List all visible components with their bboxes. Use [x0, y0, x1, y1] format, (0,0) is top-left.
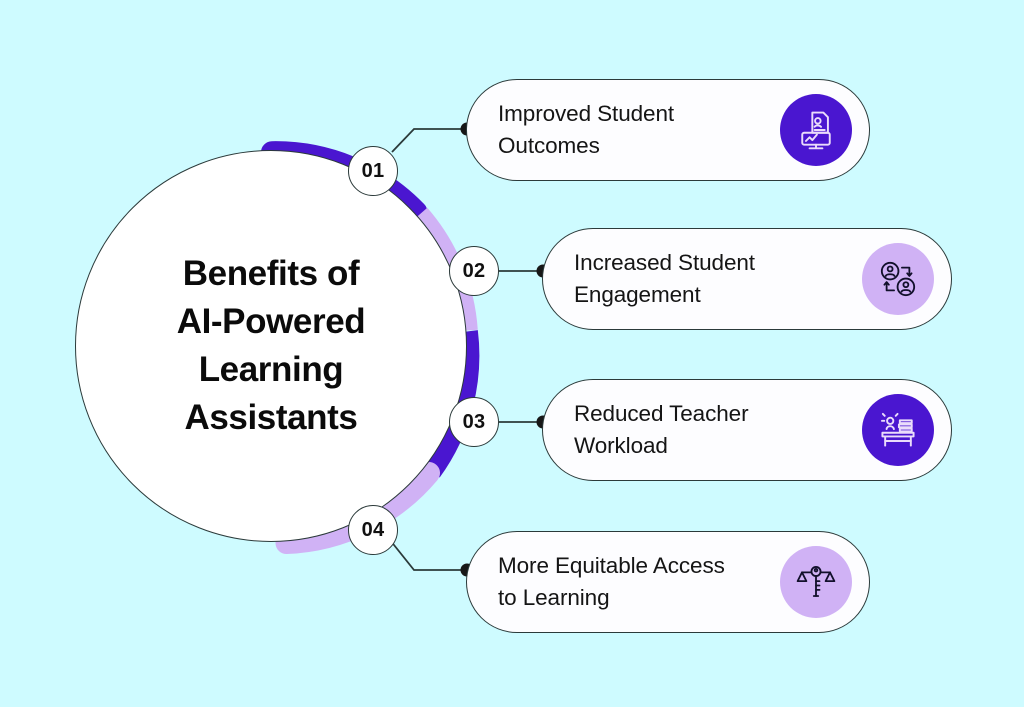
- central-circle: Benefits of AI-Powered Learning Assistan…: [75, 150, 467, 542]
- step-badge-01[interactable]: 01: [348, 146, 398, 196]
- infographic-canvas: Benefits of AI-Powered Learning Assistan…: [0, 0, 1024, 707]
- page-title: Benefits of AI-Powered Learning Assistan…: [155, 250, 388, 442]
- teacher-desk-icon: [862, 394, 934, 466]
- monitor-report-glyph: [794, 108, 838, 152]
- connector-04: [390, 540, 466, 570]
- benefit-card-increased-student-engagement[interactable]: Increased Student Engagement: [542, 228, 952, 330]
- step-badge-03[interactable]: 03: [449, 397, 499, 447]
- users-exchange-icon: [862, 243, 934, 315]
- benefit-card-reduced-teacher-workload[interactable]: Reduced Teacher Workload: [542, 379, 952, 481]
- benefit-card-label: More Equitable Access to Learning: [467, 550, 780, 614]
- scales-key-icon: [780, 546, 852, 618]
- users-exchange-glyph: [877, 258, 919, 300]
- benefit-card-improved-student-outcomes[interactable]: Improved Student Outcomes: [466, 79, 870, 181]
- connector-01: [392, 129, 466, 152]
- benefit-card-label: Reduced Teacher Workload: [543, 398, 862, 462]
- scales-key-glyph: [795, 561, 837, 603]
- step-badge-02[interactable]: 02: [449, 246, 499, 296]
- monitor-report-icon: [780, 94, 852, 166]
- benefit-card-label: Improved Student Outcomes: [467, 98, 780, 162]
- step-badge-04[interactable]: 04: [348, 505, 398, 555]
- teacher-desk-glyph: [876, 408, 920, 452]
- benefit-card-label: Increased Student Engagement: [543, 247, 862, 311]
- benefit-card-more-equitable-access[interactable]: More Equitable Access to Learning: [466, 531, 870, 633]
